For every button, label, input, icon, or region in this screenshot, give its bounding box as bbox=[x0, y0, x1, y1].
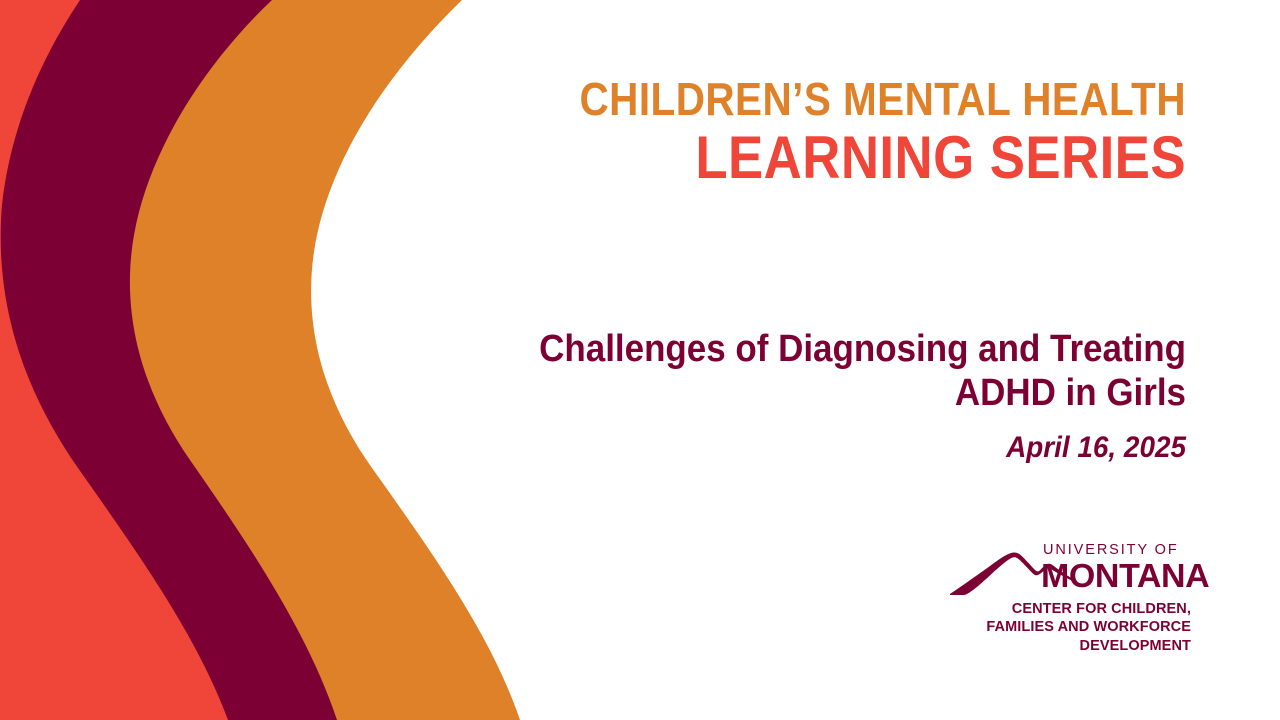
series-title: CHILDREN’S MENTAL HEALTH LEARNING SERIES bbox=[430, 76, 1186, 188]
red-band-shape bbox=[0, 0, 228, 720]
logo-center-line-3: DEVELOPMENT bbox=[948, 637, 1191, 655]
title-slide: CHILDREN’S MENTAL HEALTH LEARNING SERIES… bbox=[0, 0, 1280, 720]
logo-center-name: CENTER FOR CHILDREN, FAMILIES AND WORKFO… bbox=[948, 600, 1191, 655]
session-date: April 16, 2025 bbox=[455, 431, 1186, 464]
logo-primary-mark: UNIVERSITY OF MONTANA bbox=[948, 543, 1191, 597]
logo-wordmark: UNIVERSITY OF MONTANA bbox=[1041, 543, 1191, 593]
logo-montana-text: MONTANA bbox=[1041, 559, 1196, 593]
session-topic-line-1: Challenges of Diagnosing and Treating bbox=[463, 327, 1186, 371]
logo-center-line-2: FAMILIES AND WORKFORCE bbox=[948, 618, 1191, 636]
logo-university-of-text: UNIVERSITY OF bbox=[1041, 543, 1191, 558]
series-title-line-2: LEARNING SERIES bbox=[521, 126, 1186, 188]
session-topic-line-2: ADHD in Girls bbox=[463, 371, 1186, 415]
session-details: Challenges of Diagnosing and Treating AD… bbox=[400, 327, 1186, 464]
maroon-band-shape bbox=[0, 0, 337, 720]
series-title-line-1: CHILDREN’S MENTAL HEALTH bbox=[521, 76, 1186, 126]
university-of-montana-logo: UNIVERSITY OF MONTANA CENTER FOR CHILDRE… bbox=[948, 543, 1191, 661]
logo-center-line-1: CENTER FOR CHILDREN, bbox=[948, 600, 1191, 618]
